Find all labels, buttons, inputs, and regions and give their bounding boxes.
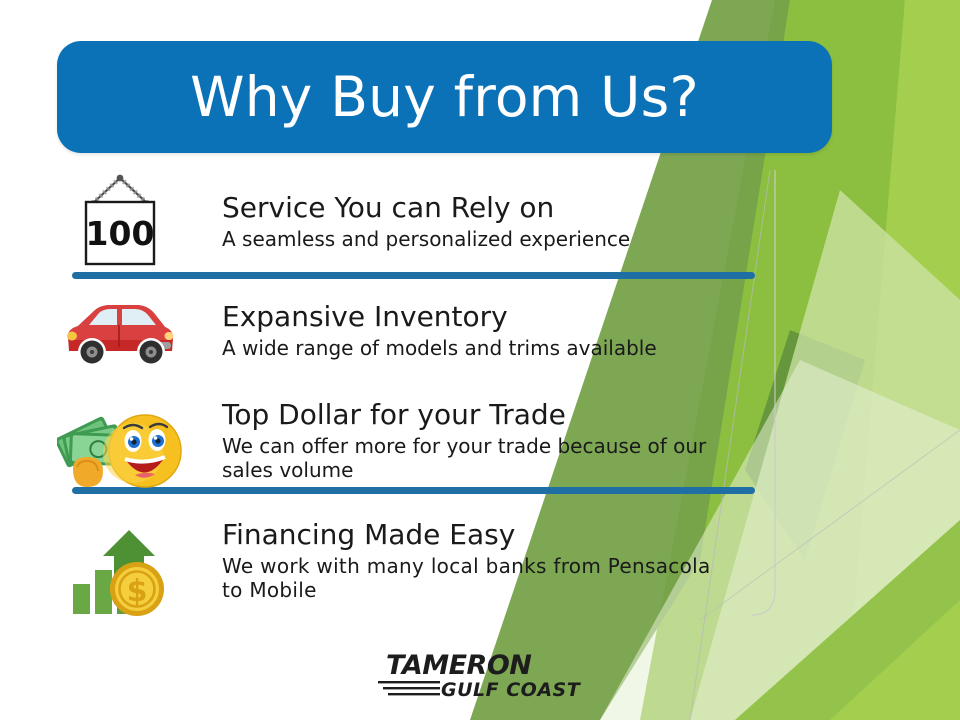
benefit-text-block: Service You can Rely on A seamless and p… (222, 168, 790, 252)
benefit-item-inventory: Expansive Inventory A wide range of mode… (0, 275, 790, 383)
benefit-heading: Service You can Rely on (222, 192, 770, 223)
dollar-sign-glyph: $ (127, 574, 148, 609)
benefit-text-block: Top Dollar for your Trade We can offer m… (222, 383, 790, 483)
logo-secondary-text: GULF COAST (441, 679, 582, 700)
benefit-subtext: A wide range of models and trims availab… (222, 337, 770, 361)
decoration-shape-bright-right (830, 0, 960, 720)
decoration-shape-lower-bright (830, 600, 960, 720)
benefit-icon-slot: 100 (55, 172, 185, 268)
benefit-subtext: A seamless and personalized experience (222, 228, 770, 252)
benefit-heading: Expansive Inventory (222, 301, 770, 332)
page-title: Why Buy from Us? (190, 70, 699, 125)
logo-primary-text: TAMERON (386, 650, 532, 681)
benefit-icon-slot (55, 289, 185, 375)
benefit-subtext: We can offer more for your trade because… (222, 435, 757, 482)
growth-chart-coin-icon: $ (67, 526, 173, 622)
logo-speed-lines (378, 681, 440, 695)
slide-canvas: Why Buy from Us? 100 (0, 0, 960, 720)
benefit-item-trade: Top Dollar for your Trade We can offer m… (0, 383, 790, 508)
benefit-heading: Top Dollar for your Trade (222, 399, 770, 430)
benefit-item-financing: $ Financing Made Easy We work with many … (0, 508, 790, 628)
benefits-list: 100 Service You can Rely on A seamless a… (0, 168, 790, 628)
benefit-icon-slot (55, 405, 185, 497)
smiley-with-cash-icon (57, 407, 183, 495)
benefit-subtext: We work with many local banks from Pensa… (222, 555, 722, 602)
title-banner: Why Buy from Us? (57, 41, 832, 153)
benefit-text-block: Financing Made Easy We work with many lo… (222, 508, 790, 603)
tameron-gulf-coast-logo: TAMERON GULF COAST (378, 648, 583, 700)
hanging-sign-number: 100 (86, 214, 155, 253)
red-car-icon (59, 291, 181, 373)
benefit-text-block: Expansive Inventory A wide range of mode… (222, 275, 790, 361)
benefit-icon-slot: $ (55, 526, 185, 622)
benefit-heading: Financing Made Easy (222, 519, 770, 550)
hanging-sign-100-icon: 100 (74, 173, 166, 267)
benefit-item-service: 100 Service You can Rely on A seamless a… (0, 168, 790, 275)
